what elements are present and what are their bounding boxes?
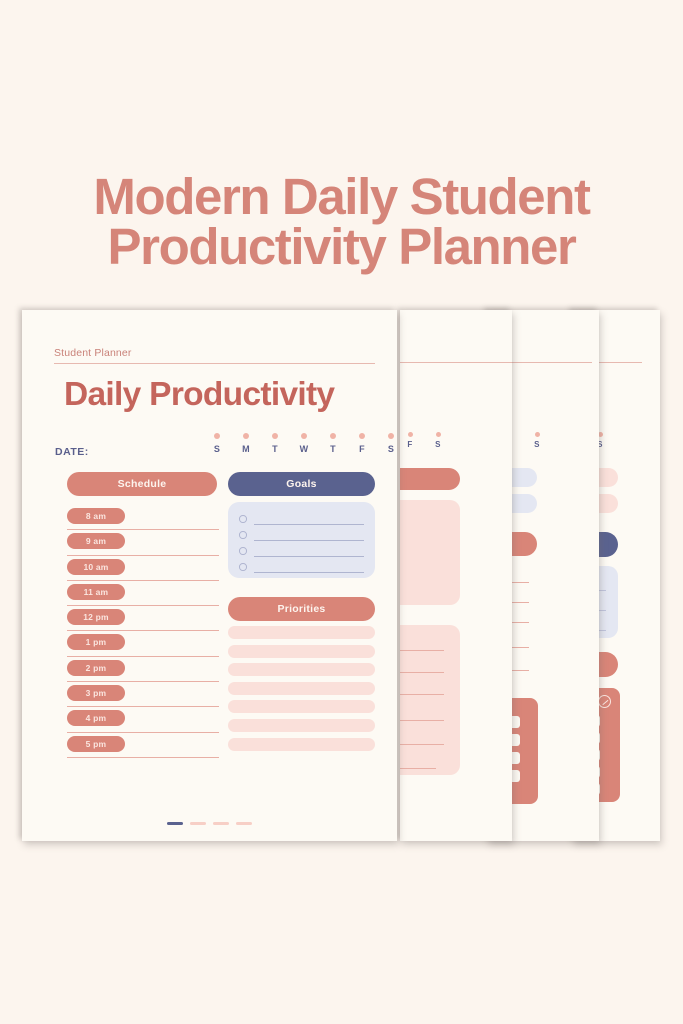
schedule-row[interactable]: 10 am xyxy=(67,559,219,584)
priority-row[interactable] xyxy=(228,645,375,658)
poster-page: Modern Daily Student Productivity Planne… xyxy=(0,0,683,1024)
goal-write-line[interactable] xyxy=(254,524,365,525)
card-title: Daily Productivity xyxy=(64,376,334,414)
goal-row[interactable] xyxy=(239,559,364,575)
goal-checkbox-icon[interactable] xyxy=(239,563,247,571)
date-label: DATE: xyxy=(55,446,89,458)
card-2-day-row: F S xyxy=(404,432,444,449)
schedule-row[interactable]: 12 pm xyxy=(67,609,219,634)
schedule-time-pill: 11 am xyxy=(67,584,125,600)
schedule-row[interactable]: 2 pm xyxy=(67,660,219,685)
day-of-week-selector: S M T W T xyxy=(210,433,397,454)
priority-row[interactable] xyxy=(228,663,375,676)
schedule-time-pill: 2 pm xyxy=(67,660,125,676)
day-dot-icon xyxy=(436,432,441,437)
card-2-day-s[interactable]: S xyxy=(432,432,444,449)
priority-row[interactable] xyxy=(228,738,375,751)
day-dot-icon xyxy=(272,433,278,439)
goal-checkbox-icon[interactable] xyxy=(239,547,247,555)
day-letter: T xyxy=(326,444,340,454)
card-3-day-s[interactable]: S xyxy=(531,432,543,449)
day-dot-icon xyxy=(388,433,394,439)
schedule-row[interactable]: 5 pm xyxy=(67,736,219,761)
schedule-write-line[interactable] xyxy=(67,732,219,733)
page-indicator-dot-1[interactable] xyxy=(167,822,183,826)
schedule-write-line[interactable] xyxy=(67,681,219,682)
planner-card-1-daily-productivity[interactable]: Student Planner Daily Productivity DATE:… xyxy=(22,310,397,841)
card-2-ruled-line xyxy=(400,694,444,695)
day-option-1[interactable]: M xyxy=(239,433,253,454)
schedule-time-pill: 4 pm xyxy=(67,710,125,726)
day-dot-icon xyxy=(408,432,413,437)
card-2-ruled-line xyxy=(400,650,444,651)
goal-write-line[interactable] xyxy=(254,572,365,573)
schedule-row[interactable]: 9 am xyxy=(67,533,219,558)
schedule-header: Schedule xyxy=(67,472,217,496)
schedule-time-pill: 5 pm xyxy=(67,736,125,752)
priority-row[interactable] xyxy=(228,719,375,732)
schedule-write-line[interactable] xyxy=(67,605,219,606)
goal-write-line[interactable] xyxy=(254,540,365,541)
schedule-row[interactable]: 8 am xyxy=(67,508,219,533)
main-card-content: Student Planner Daily Productivity DATE:… xyxy=(22,310,397,841)
brand-divider xyxy=(54,363,375,364)
page-indicator-dot-2[interactable] xyxy=(190,822,206,826)
day-letter: S xyxy=(210,444,224,454)
schedule-time-pill: 8 am xyxy=(67,508,125,524)
goal-write-line[interactable] xyxy=(254,556,365,557)
schedule-write-line[interactable] xyxy=(67,529,219,530)
schedule-time-pill: 3 pm xyxy=(67,685,125,701)
day-dot-icon xyxy=(330,433,336,439)
schedule-list: 8 am 9 am 10 am 11 am xyxy=(67,508,219,761)
day-letter: S xyxy=(384,444,397,454)
schedule-time-pill: 12 pm xyxy=(67,609,125,625)
day-letter: M xyxy=(239,444,253,454)
priority-row[interactable] xyxy=(228,682,375,695)
day-letter: T xyxy=(268,444,282,454)
schedule-row[interactable]: 3 pm xyxy=(67,685,219,710)
priorities-list xyxy=(228,626,375,756)
day-option-6[interactable]: S xyxy=(384,433,397,454)
card-2-day-letter: S xyxy=(432,440,444,449)
goals-box xyxy=(228,502,375,578)
day-option-4[interactable]: T xyxy=(326,433,340,454)
card-2-ruled-line xyxy=(400,672,444,673)
schedule-write-line[interactable] xyxy=(67,580,219,581)
schedule-time-pill: 10 am xyxy=(67,559,125,575)
page-indicator-dot-3[interactable] xyxy=(213,822,229,826)
goal-checkbox-icon[interactable] xyxy=(239,531,247,539)
page-indicator xyxy=(22,822,397,826)
day-dot-icon xyxy=(301,433,307,439)
day-dot-icon xyxy=(214,433,220,439)
card-2-ruled-line xyxy=(400,720,444,721)
card-2-content: F S xyxy=(400,310,512,841)
goal-checkbox-icon[interactable] xyxy=(239,515,247,523)
schedule-row[interactable]: 1 pm xyxy=(67,634,219,659)
schedule-row[interactable]: 11 am xyxy=(67,584,219,609)
day-option-5[interactable]: F xyxy=(355,433,369,454)
day-option-0[interactable]: S xyxy=(210,433,224,454)
goal-row[interactable] xyxy=(239,543,364,559)
day-letter: F xyxy=(355,444,369,454)
card-2-rule xyxy=(400,362,512,363)
schedule-write-line[interactable] xyxy=(67,555,219,556)
check-circle-icon xyxy=(598,695,611,708)
day-option-2[interactable]: T xyxy=(268,433,282,454)
planner-card-2[interactable]: F S xyxy=(400,310,512,841)
schedule-time-pill: 9 am xyxy=(67,533,125,549)
schedule-write-line[interactable] xyxy=(67,757,219,758)
priorities-header: Priorities xyxy=(228,597,375,621)
card-2-day-letter: F xyxy=(404,440,416,449)
schedule-write-line[interactable] xyxy=(67,656,219,657)
schedule-write-line[interactable] xyxy=(67,630,219,631)
page-indicator-dot-4[interactable] xyxy=(236,822,252,826)
card-2-day-f[interactable]: F xyxy=(404,432,416,449)
card-2-ruled-line xyxy=(400,744,444,745)
day-dot-icon xyxy=(359,433,365,439)
priority-row[interactable] xyxy=(228,700,375,713)
card-2-pink-box xyxy=(400,625,460,775)
day-option-3[interactable]: W xyxy=(297,433,311,454)
planner-card-stack: ew F S xyxy=(0,0,683,1024)
card-3-day-letter: S xyxy=(531,440,543,449)
day-letter: W xyxy=(297,444,311,454)
goal-row[interactable] xyxy=(239,511,364,527)
card-2-salmon-header xyxy=(400,468,460,490)
day-dot-icon xyxy=(535,432,540,437)
goals-header: Goals xyxy=(228,472,375,496)
day-dot-icon xyxy=(243,433,249,439)
schedule-write-line[interactable] xyxy=(67,706,219,707)
schedule-time-pill: 1 pm xyxy=(67,634,125,650)
card-2-ruled-line xyxy=(400,768,436,769)
card-2-pink-box xyxy=(400,500,460,605)
brand-label: Student Planner xyxy=(54,347,132,359)
schedule-row[interactable]: 4 pm xyxy=(67,710,219,735)
goal-row[interactable] xyxy=(239,527,364,543)
priority-row[interactable] xyxy=(228,626,375,639)
